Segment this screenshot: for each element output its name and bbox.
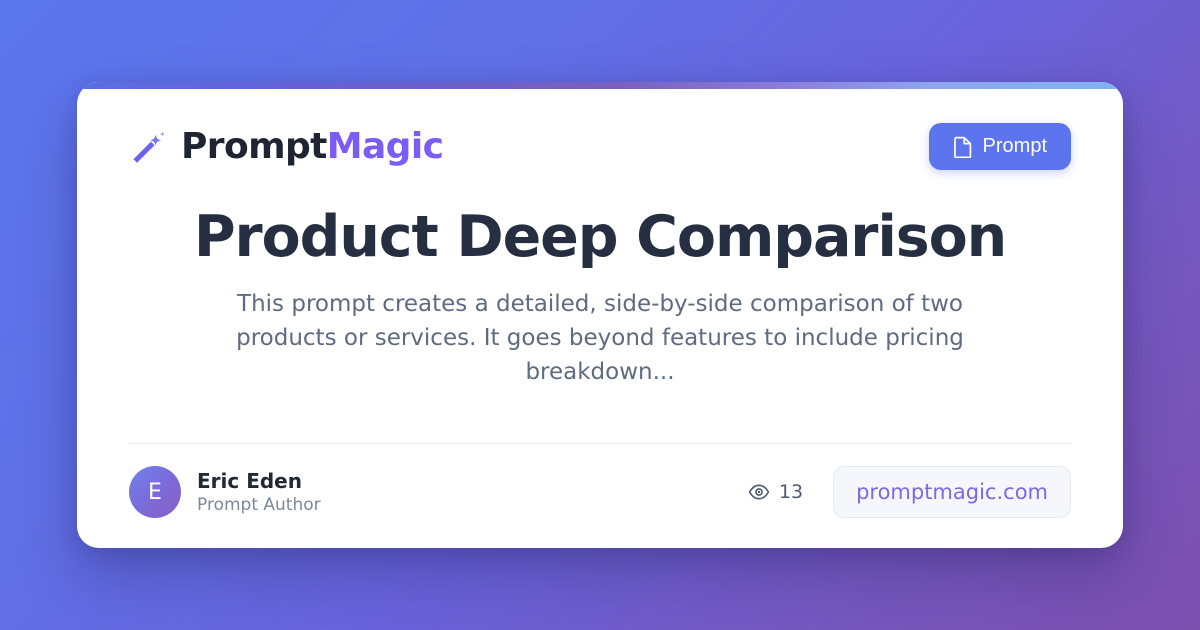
author-block[interactable]: E Eric Eden Prompt Author [129,466,321,518]
card-accent-bar [77,82,1123,89]
card-footer: E Eric Eden Prompt Author 13 promptmagic… [77,444,1123,548]
magic-wand-icon [129,128,167,166]
card-header: PromptMagic Prompt [77,82,1123,170]
view-count: 13 [748,481,803,503]
page-description: This prompt creates a detailed, side-by-… [235,287,965,390]
prompt-button[interactable]: Prompt [929,123,1071,170]
page-title: Product Deep Comparison [194,206,1006,270]
author-meta: Eric Eden Prompt Author [197,469,321,515]
view-count-value: 13 [779,481,803,503]
brand-logo[interactable]: PromptMagic [129,128,443,166]
prompt-button-label: Prompt [983,135,1047,158]
avatar: E [129,466,181,518]
author-name: Eric Eden [197,469,321,493]
brand-wordmark: PromptMagic [181,129,443,165]
author-role: Prompt Author [197,495,321,515]
share-card: PromptMagic Prompt Product Deep Comparis… [77,82,1123,548]
card-body: Product Deep Comparison This prompt crea… [77,170,1123,443]
eye-icon [748,481,770,503]
footer-right: 13 promptmagic.com [748,466,1071,518]
brand-text-prompt: Prompt [181,126,327,167]
brand-text-magic: Magic [327,126,444,167]
domain-badge[interactable]: promptmagic.com [833,466,1071,518]
document-icon [953,136,973,158]
